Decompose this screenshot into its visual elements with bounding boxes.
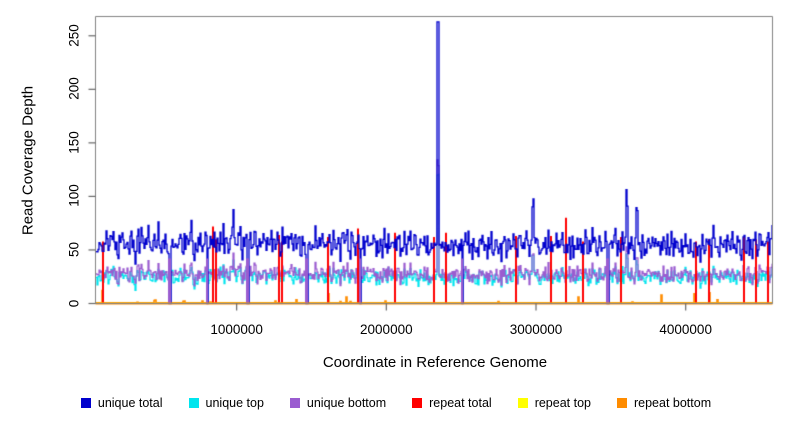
legend-item-unique-bottom[interactable]: unique bottom — [290, 396, 386, 410]
legend-item-unique-top[interactable]: unique top — [189, 396, 264, 410]
y-tick-label-150: 150 — [66, 128, 81, 156]
x-tick-label-2000000: 2000000 — [341, 322, 431, 337]
legend-label-unique-bottom: unique bottom — [307, 396, 386, 410]
legend-item-repeat-bottom[interactable]: repeat bottom — [617, 396, 711, 410]
legend-swatch-icon-unique-total — [81, 398, 91, 408]
legend-label-repeat-top: repeat top — [535, 396, 591, 410]
y-axis-title: Read Coverage Depth — [20, 56, 37, 266]
y-tick-label-200: 200 — [66, 75, 81, 103]
legend-item-unique-total[interactable]: unique total — [81, 396, 163, 410]
legend-swatch-icon-unique-top — [189, 398, 199, 408]
chart-legend: unique total unique top unique bottom re… — [0, 396, 792, 410]
x-axis-title: Coordinate in Reference Genome — [96, 354, 774, 371]
legend-item-repeat-top[interactable]: repeat top — [518, 396, 591, 410]
legend-item-repeat-total[interactable]: repeat total — [412, 396, 492, 410]
legend-swatch-icon-repeat-top — [518, 398, 528, 408]
coverage-depth-figure: Read Coverage Depth Coordinate in Refere… — [0, 0, 792, 432]
legend-swatch-icon-unique-bottom — [290, 398, 300, 408]
y-tick-label-0: 0 — [66, 289, 81, 317]
legend-label-repeat-bottom: repeat bottom — [634, 396, 711, 410]
y-tick-label-100: 100 — [66, 182, 81, 210]
y-tick-label-250: 250 — [66, 21, 81, 49]
legend-swatch-icon-repeat-bottom — [617, 398, 627, 408]
legend-label-repeat-total: repeat total — [429, 396, 492, 410]
legend-label-unique-total: unique total — [98, 396, 163, 410]
y-tick-label-50: 50 — [66, 235, 81, 263]
legend-label-unique-top: unique top — [206, 396, 264, 410]
x-tick-label-4000000: 4000000 — [641, 322, 731, 337]
legend-swatch-icon-repeat-total — [412, 398, 422, 408]
x-tick-label-1000000: 1000000 — [192, 322, 282, 337]
x-tick-label-3000000: 3000000 — [491, 322, 581, 337]
